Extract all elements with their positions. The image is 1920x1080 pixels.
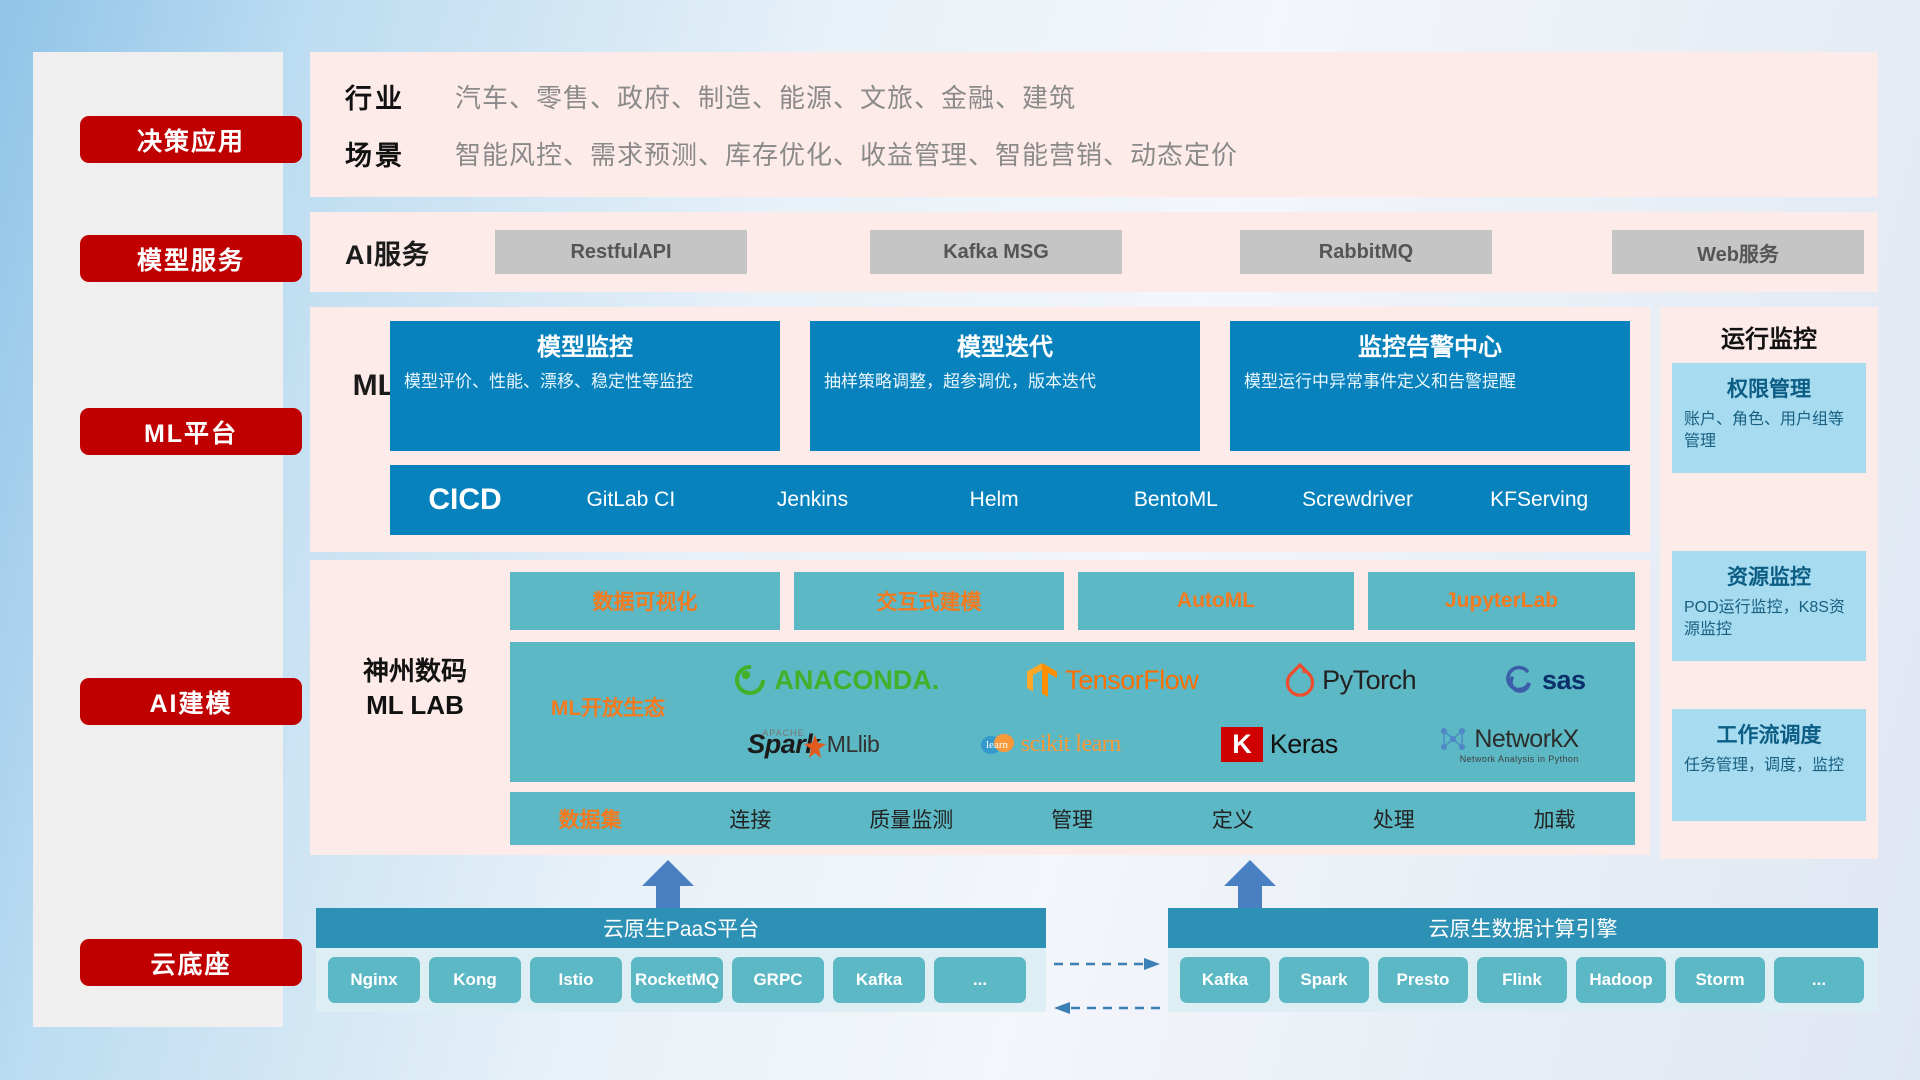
industry-scenario-band: 行业 汽车、零售、政府、制造、能源、文旅、金融、建筑 场景 智能风控、需求预测、… — [310, 52, 1878, 197]
scikit-learn-icon: learn — [980, 729, 1014, 759]
compute-engine-block: 云原生数据计算引擎 Kafka Spark Presto Flink Hadoo… — [1168, 908, 1878, 1012]
mllib-wordmark: MLlib — [827, 731, 879, 758]
dataset-op-connect[interactable]: 连接 — [670, 804, 831, 834]
pytorch-icon — [1285, 663, 1315, 697]
arrow-head-left — [1054, 1002, 1070, 1014]
ml-lab-label-line1: 神州数码 — [330, 655, 500, 689]
arrow-head-right — [1144, 958, 1160, 970]
scenario-row: 场景 智能风控、需求预测、库存优化、收益管理、智能营销、动态定价 — [345, 134, 1238, 173]
lab-tool-interactive-modeling[interactable]: 交互式建模 — [794, 572, 1064, 630]
sas-wordmark: sas — [1542, 665, 1586, 696]
run-card-resource[interactable]: 资源监控 POD运行监控，K8S资源监控 — [1672, 551, 1866, 661]
lab-tool-jupyterlab[interactable]: JupyterLab — [1368, 572, 1635, 630]
mlops-card-title: 模型监控 — [404, 333, 766, 363]
paas-chip-list: Nginx Kong Istio RocketMQ GRPC Kafka ... — [316, 948, 1046, 1012]
ai-service-rabbitmq[interactable]: RabbitMQ — [1240, 230, 1492, 274]
paas-chip-istio[interactable]: Istio — [530, 957, 622, 1003]
layer-button-ml-platform[interactable]: ML平台 — [80, 408, 302, 455]
anaconda-icon — [733, 663, 767, 697]
compute-chip-flink[interactable]: Flink — [1477, 957, 1567, 1003]
ecosystem-logo-row-2: APACHE Spark MLlib learn — [690, 713, 1629, 775]
spark-flame-icon — [802, 734, 828, 760]
compute-chip-kafka[interactable]: Kafka — [1180, 957, 1270, 1003]
layer-button-decision[interactable]: 决策应用 — [80, 116, 302, 163]
sas-logo: sas — [1503, 664, 1586, 696]
layer-rail: 决策应用 模型服务 ML平台 AI建模 云底座 — [33, 52, 283, 1027]
cicd-tool-kfserving[interactable]: KFServing — [1448, 487, 1630, 513]
run-card-title: 权限管理 — [1684, 373, 1854, 403]
ai-service-web[interactable]: Web服务 — [1612, 230, 1864, 274]
compute-chip-list: Kafka Spark Presto Flink Hadoop Storm ..… — [1168, 948, 1878, 1012]
compute-chip-hadoop[interactable]: Hadoop — [1576, 957, 1666, 1003]
run-card-title: 工作流调度 — [1684, 719, 1854, 749]
cicd-tool-screwdriver[interactable]: Screwdriver — [1267, 487, 1449, 513]
run-monitor-column: 运行监控 权限管理 账户、角色、用户组等管理 资源监控 POD运行监控，K8S资… — [1660, 307, 1878, 859]
cicd-label: CICD — [390, 483, 540, 517]
anaconda-wordmark: ANACONDA. — [774, 665, 939, 696]
dataset-op-manage[interactable]: 管理 — [992, 804, 1153, 834]
anaconda-logo: ANACONDA. — [733, 663, 939, 697]
layer-button-ai-modeling[interactable]: AI建模 — [80, 678, 302, 725]
industry-label: 行业 — [345, 77, 455, 116]
ml-open-ecosystem: ML开放生态 ANACONDA. — [510, 642, 1635, 782]
ml-lab-label-line2: ML LAB — [330, 689, 500, 723]
run-card-workflow[interactable]: 工作流调度 任务管理，调度，监控 — [1672, 709, 1866, 821]
industry-row: 行业 汽车、零售、政府、制造、能源、文旅、金融、建筑 — [345, 77, 1076, 116]
pytorch-logo: PyTorch — [1285, 663, 1416, 697]
keras-logo: K Keras — [1221, 727, 1338, 762]
dataset-label: 数据集 — [510, 804, 670, 834]
dataset-op-quality[interactable]: 质量监测 — [831, 804, 992, 834]
lab-tool-data-visualization[interactable]: 数据可视化 — [510, 572, 780, 630]
networkx-wordmark: NetworkX — [1474, 725, 1578, 754]
tensorflow-wordmark: TensorFlow — [1065, 665, 1198, 696]
scenario-value: 智能风控、需求预测、库存优化、收益管理、智能营销、动态定价 — [455, 135, 1238, 172]
run-card-permission[interactable]: 权限管理 账户、角色、用户组等管理 — [1672, 363, 1866, 473]
mlops-card-title: 模型迭代 — [824, 333, 1186, 363]
tensorflow-logo: TensorFlow — [1026, 662, 1198, 698]
keras-wordmark: Keras — [1270, 729, 1338, 760]
ml-lab-band: 神州数码 ML LAB 数据可视化 交互式建模 AutoML JupyterLa… — [310, 560, 1650, 855]
bidirectional-dashed-arrows — [1052, 952, 1162, 1020]
dataset-op-load[interactable]: 加载 — [1474, 804, 1635, 834]
mlops-card-desc: 模型评价、性能、漂移、稳定性等监控 — [404, 370, 766, 394]
networkx-icon — [1438, 725, 1468, 753]
svg-text:learn: learn — [986, 739, 1008, 751]
compute-chip-more[interactable]: ... — [1774, 957, 1864, 1003]
compute-chip-spark[interactable]: Spark — [1279, 957, 1369, 1003]
scenario-label: 场景 — [345, 134, 455, 173]
paas-platform-block: 云原生PaaS平台 Nginx Kong Istio RocketMQ GRPC… — [316, 908, 1046, 1012]
keras-icon: K — [1221, 727, 1263, 762]
layer-button-cloud-base[interactable]: 云底座 — [80, 939, 302, 986]
dataset-op-define[interactable]: 定义 — [1152, 804, 1313, 834]
paas-chip-rocketmq[interactable]: RocketMQ — [631, 957, 723, 1003]
networkx-logo: NetworkX Network Analysis in Python — [1438, 725, 1578, 764]
sas-icon — [1503, 664, 1535, 696]
pytorch-wordmark: PyTorch — [1322, 665, 1416, 696]
run-card-desc: POD运行监控，K8S资源监控 — [1684, 597, 1854, 642]
paas-platform-title: 云原生PaaS平台 — [316, 908, 1046, 948]
scikit-learn-logo: learn scikit learn — [980, 729, 1121, 759]
run-card-desc: 账户、角色、用户组等管理 — [1684, 409, 1854, 454]
ai-service-label: AI服务 — [345, 230, 430, 274]
networkx-tagline: Network Analysis in Python — [1460, 754, 1579, 764]
paas-chip-nginx[interactable]: Nginx — [328, 957, 420, 1003]
spark-apache-tag: APACHE — [762, 728, 804, 738]
mlops-card-alert-center[interactable]: 监控告警中心 模型运行中异常事件定义和告警提醒 — [1230, 321, 1630, 451]
compute-chip-storm[interactable]: Storm — [1675, 957, 1765, 1003]
cicd-tool-jenkins[interactable]: Jenkins — [722, 487, 904, 513]
diagram-canvas: 决策应用 模型服务 ML平台 AI建模 云底座 行业 汽车、零售、政府、制造、能… — [0, 0, 1920, 1080]
arrow-up-paas — [640, 860, 696, 912]
arrow-up-compute — [1222, 860, 1278, 912]
mlops-band: MLOps 模型监控 模型评价、性能、漂移、稳定性等监控 模型迭代 抽样策略调整… — [310, 307, 1650, 552]
mlops-card-desc: 抽样策略调整，超参调优，版本迭代 — [824, 370, 1186, 394]
run-monitor-title: 运行监控 — [1660, 319, 1878, 354]
cicd-tool-helm[interactable]: Helm — [903, 487, 1085, 513]
dataset-row: 数据集 连接 质量监测 管理 定义 处理 加载 — [510, 792, 1635, 845]
ecosystem-logo-grid: ANACONDA. TensorFlow — [690, 648, 1629, 776]
cicd-tool-gitlab-ci[interactable]: GitLab CI — [540, 487, 722, 513]
compute-chip-presto[interactable]: Presto — [1378, 957, 1468, 1003]
ai-service-restfulapi[interactable]: RestfulAPI — [495, 230, 747, 274]
mlops-card-model-iteration[interactable]: 模型迭代 抽样策略调整，超参调优，版本迭代 — [810, 321, 1200, 451]
lab-tool-automl[interactable]: AutoML — [1078, 572, 1354, 630]
run-card-title: 资源监控 — [1684, 561, 1854, 591]
mlops-card-model-monitor[interactable]: 模型监控 模型评价、性能、漂移、稳定性等监控 — [390, 321, 780, 451]
industry-value: 汽车、零售、政府、制造、能源、文旅、金融、建筑 — [455, 78, 1076, 115]
mlops-card-desc: 模型运行中异常事件定义和告警提醒 — [1244, 370, 1616, 394]
ml-lab-label: 神州数码 ML LAB — [330, 655, 500, 723]
paas-chip-grpc[interactable]: GRPC — [732, 957, 824, 1003]
dataset-op-process[interactable]: 处理 — [1313, 804, 1474, 834]
ai-service-kafka-msg[interactable]: Kafka MSG — [870, 230, 1122, 274]
ecosystem-logo-row-1: ANACONDA. TensorFlow — [690, 649, 1629, 711]
ai-service-band: AI服务 RestfulAPI Kafka MSG RabbitMQ Web服务 — [310, 212, 1878, 292]
cicd-strip: CICD GitLab CI Jenkins Helm BentoML Scre… — [390, 465, 1630, 535]
run-card-desc: 任务管理，调度，监控 — [1684, 755, 1854, 777]
compute-engine-title: 云原生数据计算引擎 — [1168, 908, 1878, 948]
ml-open-ecosystem-label: ML开放生态 — [528, 692, 688, 722]
layer-button-model-service[interactable]: 模型服务 — [80, 235, 302, 282]
paas-chip-more[interactable]: ... — [934, 957, 1026, 1003]
spark-mllib-logo: APACHE Spark MLlib — [740, 729, 879, 760]
paas-chip-kafka[interactable]: Kafka — [833, 957, 925, 1003]
mlops-card-title: 监控告警中心 — [1244, 333, 1616, 363]
cicd-tool-bentoml[interactable]: BentoML — [1085, 487, 1267, 513]
paas-chip-kong[interactable]: Kong — [429, 957, 521, 1003]
tensorflow-icon — [1026, 662, 1058, 698]
scikit-learn-wordmark: scikit learn — [1021, 731, 1121, 758]
